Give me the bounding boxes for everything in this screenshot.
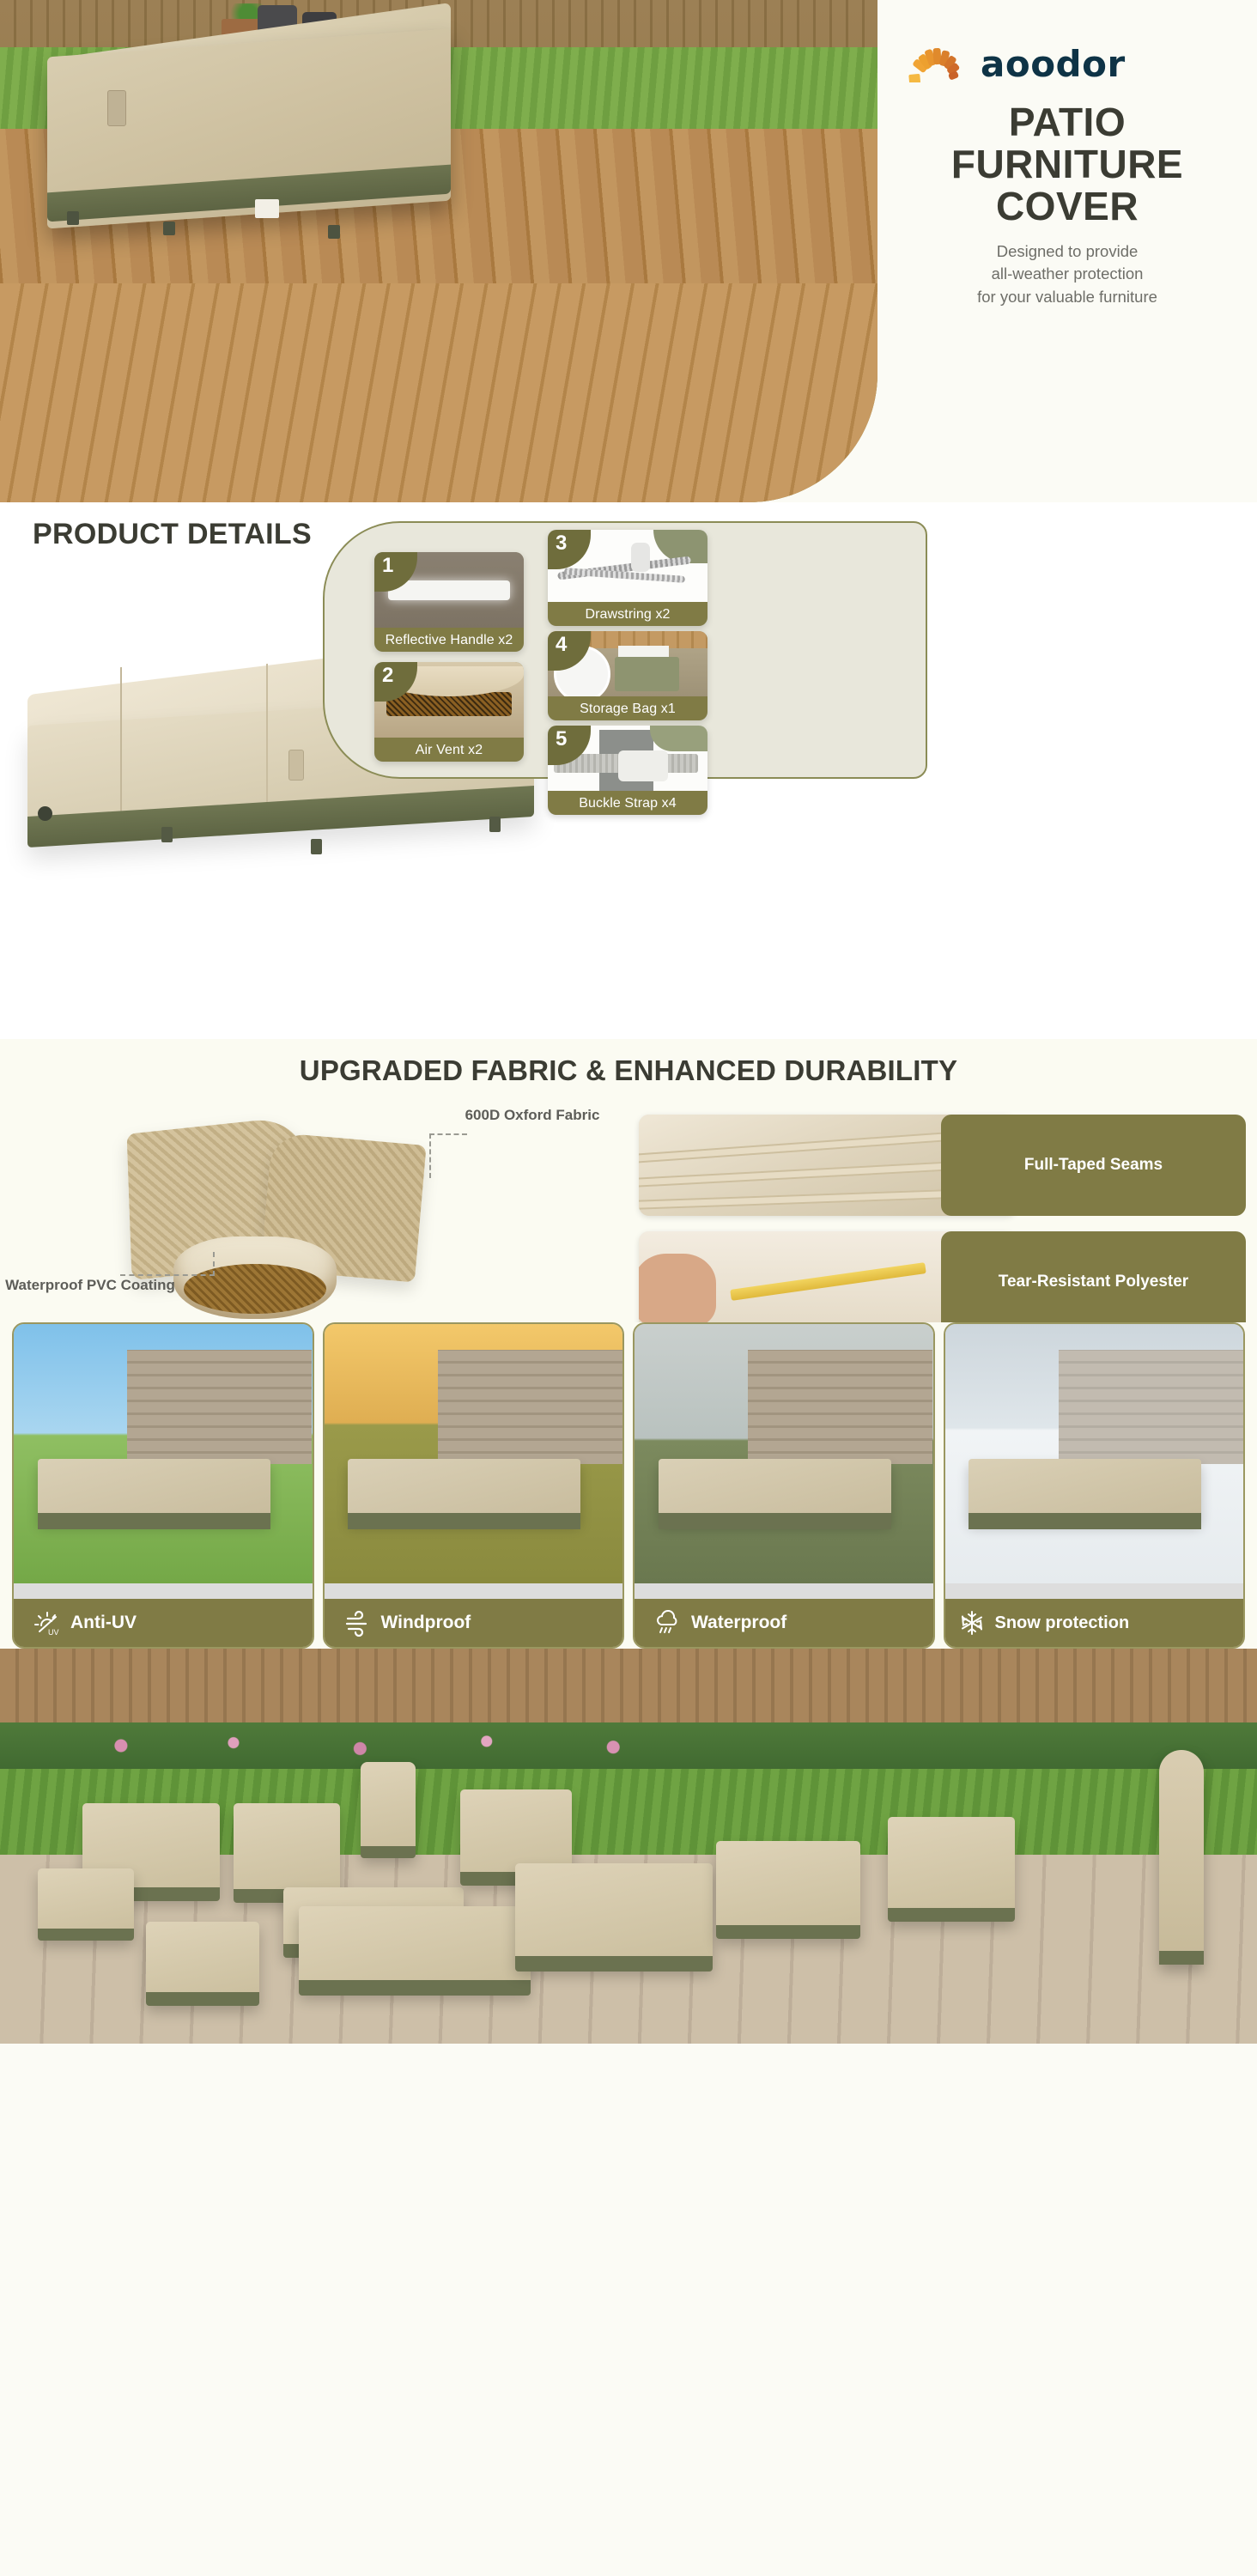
weather-protection-section: UV Anti-UV Windproof [0,1322,1257,1649]
weather-label-bar: Snow protection [945,1599,1244,1647]
covered-chair [234,1803,340,1899]
weather-card-windproof[interactable]: Windproof [323,1322,625,1649]
callout-cards: 1 Reflective Handle x2 2 Air Vent x2 [323,521,927,779]
buckle-icon [618,750,668,781]
weather-label: Windproof [381,1613,471,1633]
reflective-handle [288,750,304,781]
title-line-3: COVER [896,185,1238,228]
cover-hem [969,1513,1201,1528]
wind-icon [343,1608,373,1637]
svg-text:UV: UV [48,1628,59,1637]
cover-hem [1159,1951,1204,1965]
weather-label-bar: UV Anti-UV [14,1599,313,1647]
cover-hem [515,1956,713,1971]
page-title: PATIO FURNITURE COVER [877,101,1257,228]
weather-card-waterproof[interactable]: Waterproof [633,1322,935,1649]
covered-chair [888,1817,1015,1920]
hero-section: aoodor PATIO FURNITURE COVER Designed to… [0,0,1257,502]
feature-label-full-taped-seams: Full-Taped Seams [941,1115,1246,1216]
product-infographic: aoodor PATIO FURNITURE COVER Designed to… [0,0,1257,2576]
covered-furniture [659,1459,891,1521]
product-details-section: PRODUCT DETAILS 1 Reflective Handle [0,502,1257,1039]
reflective-handle [107,90,126,126]
cover-seam [266,664,268,823]
card-label: Drawstring x2 [548,602,707,626]
reflective-strip-icon [388,580,511,600]
weather-label: Waterproof [691,1613,786,1633]
weather-card-anti-uv[interactable]: UV Anti-UV [12,1322,314,1649]
hero-photo [0,0,877,502]
brand-name: aoodor [981,43,1126,85]
card-image: 1 [374,552,524,628]
covered-sofa [515,1863,713,1968]
hand-icon [639,1254,716,1327]
cover-seam [120,667,122,820]
subtitle-line-2: all-weather protection [902,263,1233,285]
card-image: 4 [548,631,707,696]
card-label: Reflective Handle x2 [374,628,524,652]
weather-label: Anti-UV [70,1613,137,1633]
weather-label: Snow protection [995,1613,1130,1633]
cover-foot [67,211,79,225]
cover-hem [38,1929,134,1941]
leader-line-oxford [429,1133,467,1178]
detail-card-reflective-handle[interactable]: 1 Reflective Handle x2 [374,552,524,652]
fabric-content: 600D Oxford Fabric Waterproof PVC Coatin… [0,1091,1257,1322]
scene-sunny [14,1324,313,1583]
cover-foot [489,817,501,832]
deck-floor-front [0,283,877,502]
card-label: Buckle Strap x4 [548,791,707,815]
label-pvc-coating: Waterproof PVC Coating [0,1276,180,1295]
subtitle-line-1: Designed to provide [902,240,1233,263]
stone-wall [127,1350,312,1464]
covered-furniture [38,1459,270,1521]
covered-side-table [716,1841,860,1937]
brand-tag [255,199,279,218]
cover-hem [38,1513,270,1528]
weather-label-bar: Waterproof [635,1599,933,1647]
covered-umbrella [1159,1750,1204,1965]
snowflake-icon [957,1608,987,1637]
stone-wall [748,1350,932,1464]
sun-uv-icon: UV [33,1608,62,1637]
card-image: 5 [548,726,707,791]
cover-foot [161,827,173,842]
covered-furniture [969,1459,1201,1521]
leader-line-pvc [120,1252,215,1276]
weather-card-snow-protection[interactable]: Snow protection [944,1322,1246,1649]
detail-card-air-vent[interactable]: 2 Air Vent x2 [374,662,524,762]
cover-hem [299,1980,531,1996]
card-image: 3 [548,530,707,602]
subtitle-line-3: for your valuable furniture [902,286,1233,308]
cover-hem [146,1992,259,2006]
cover-foot [163,222,175,235]
covered-tall-chair [361,1762,416,1856]
section-heading-product-details: PRODUCT DETAILS [33,518,312,551]
fabric-section: UPGRADED FABRIC & ENHANCED DURABILITY 60… [0,1039,1257,1322]
flower-bed [51,1731,755,1760]
cover-hem [348,1513,580,1528]
stone-wall [1059,1350,1243,1464]
cover-foot [328,225,340,239]
brand-logo: aoodor [877,39,1257,88]
cover-foot [311,839,322,854]
cord-lock-icon [631,543,650,572]
scene-snowy [945,1324,1244,1583]
section-heading-fabric: UPGRADED FABRIC & ENHANCED DURABILITY [0,1054,1257,1087]
covered-coffee-table [299,1906,531,1992]
covered-furniture [348,1459,580,1521]
caster-wheel [38,806,52,821]
cover-hem [361,1846,416,1858]
detail-card-storage-bag[interactable]: 4 Storage Bag x1 [548,631,707,720]
scene-windy [325,1324,623,1583]
title-line-1: PATIO [896,101,1238,143]
feature-label-tear-resistant-polyester: Tear-Resistant Polyester [941,1231,1246,1333]
lifestyle-scene [0,1649,1257,2044]
cover-hem [888,1908,1015,1922]
bag-pocket [615,657,678,691]
card-label: Air Vent x2 [374,738,524,762]
cover-hem [716,1925,860,1939]
sunburst-icon [907,45,970,82]
hero-text-panel: aoodor PATIO FURNITURE COVER Designed to… [877,0,1257,502]
hero-subtitle: Designed to provide all-weather protecti… [877,240,1257,308]
card-label: Storage Bag x1 [548,696,707,720]
card-image: 2 [374,662,524,738]
label-oxford-fabric: 600D Oxford Fabric [455,1106,610,1125]
stone-wall [438,1350,622,1464]
detail-card-buckle-strap[interactable]: 5 Buckle Strap x4 [548,726,707,815]
cover-hem [659,1513,891,1528]
title-line-2: FURNITURE [896,143,1238,185]
scene-rainy [635,1324,933,1583]
weather-label-bar: Windproof [325,1599,623,1647]
detail-card-drawstring[interactable]: 3 Drawstring x2 [548,530,707,626]
rain-cloud-icon [653,1608,683,1637]
